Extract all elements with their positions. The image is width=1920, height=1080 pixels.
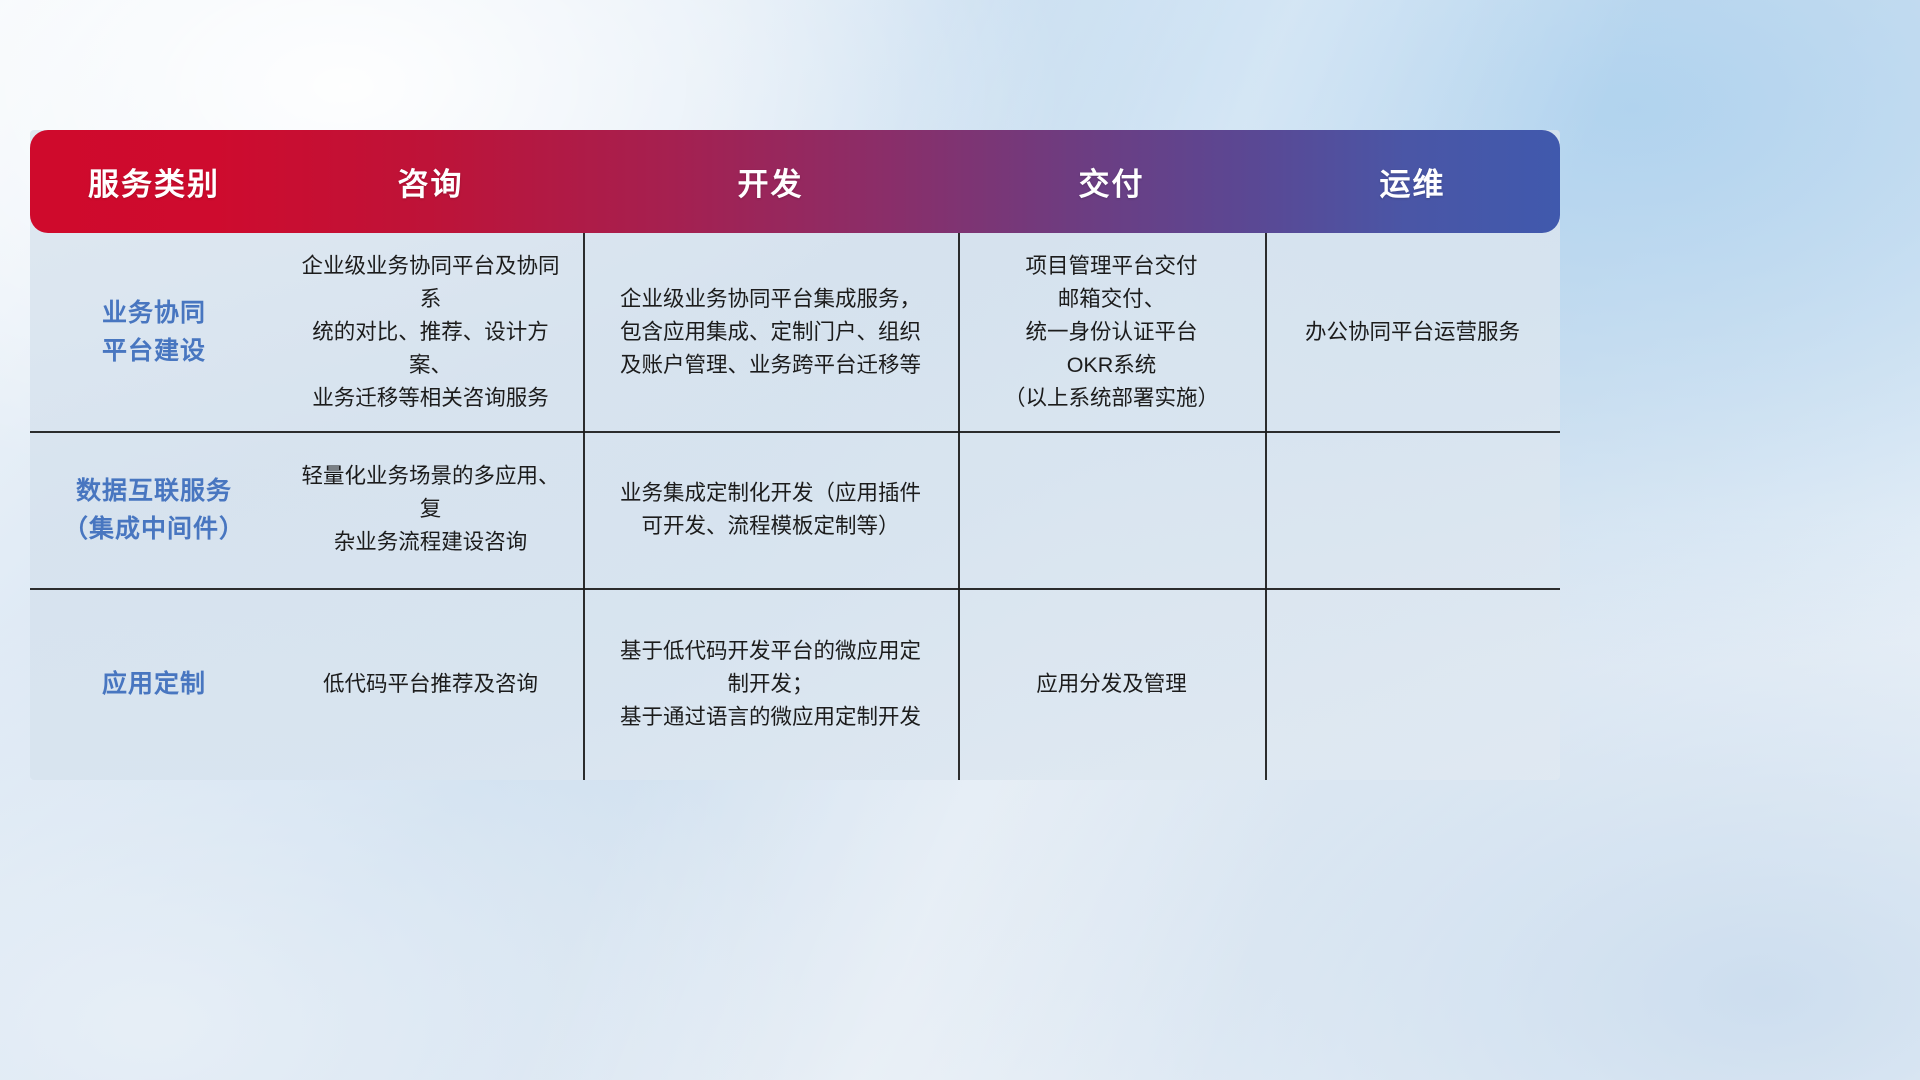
table-row: 业务协同 平台建设 企业级业务协同平台及协同系 统的对比、推荐、设计方案、 业务… [30,233,1560,431]
table-header-cell-service-category: 服务类别 [30,130,278,233]
cell-consulting: 企业级业务协同平台及协同系 统的对比、推荐、设计方案、 业务迁移等相关咨询服务 [278,233,583,431]
cell-operations [1265,588,1560,780]
table-header-cell-delivery: 交付 [958,130,1265,233]
slide-canvas: 服务类别 咨询 开发 交付 运维 业务协同 平台建设 企业级业务协同平台及协同系… [0,0,1920,1080]
cell-category: 业务协同 平台建设 [30,233,278,431]
cell-category: 数据互联服务 （集成中间件） [30,431,278,588]
table-row: 应用定制 低代码平台推荐及咨询 基于低代码开发平台的微应用定 制开发； 基于通过… [30,588,1560,780]
cell-development: 企业级业务协同平台集成服务， 包含应用集成、定制门户、组织 及账户管理、业务跨平… [583,233,958,431]
cell-development: 基于低代码开发平台的微应用定 制开发； 基于通过语言的微应用定制开发 [583,588,958,780]
cell-operations: 办公协同平台运营服务 [1265,233,1560,431]
table-row: 数据互联服务 （集成中间件） 轻量化业务场景的多应用、复 杂业务流程建设咨询 业… [30,431,1560,588]
cell-consulting: 轻量化业务场景的多应用、复 杂业务流程建设咨询 [278,431,583,588]
table-header-row: 服务类别 咨询 开发 交付 运维 [30,130,1560,233]
table-header-cell-consulting: 咨询 [278,130,583,233]
cell-delivery: 应用分发及管理 [958,588,1265,780]
cell-consulting: 低代码平台推荐及咨询 [278,588,583,780]
table-body: 业务协同 平台建设 企业级业务协同平台及协同系 统的对比、推荐、设计方案、 业务… [30,233,1560,780]
cell-development: 业务集成定制化开发（应用插件 可开发、流程模板定制等） [583,431,958,588]
cell-category: 应用定制 [30,588,278,780]
cell-delivery [958,431,1265,588]
table-header-cell-operations: 运维 [1265,130,1560,233]
service-matrix-table: 服务类别 咨询 开发 交付 运维 业务协同 平台建设 企业级业务协同平台及协同系… [30,130,1560,780]
cell-delivery: 项目管理平台交付 邮箱交付、 统一身份认证平台 OKR系统 （以上系统部署实施） [958,233,1265,431]
cell-operations [1265,431,1560,588]
table-header-cell-development: 开发 [583,130,958,233]
